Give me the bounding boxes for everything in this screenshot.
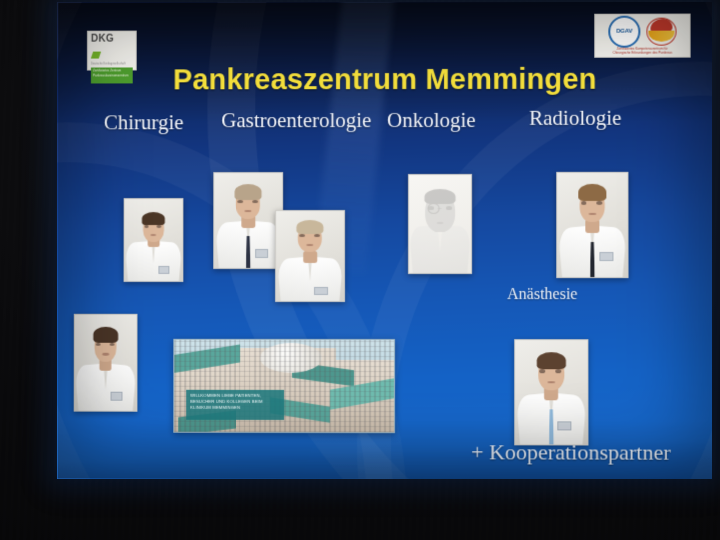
slide-vignette [58, 2, 712, 479]
projection-photo: DKG Deutsche Krebsgesellschaft Zertifizi… [0, 0, 720, 540]
presentation-slide: DKG Deutsche Krebsgesellschaft Zertifizi… [57, 2, 712, 479]
